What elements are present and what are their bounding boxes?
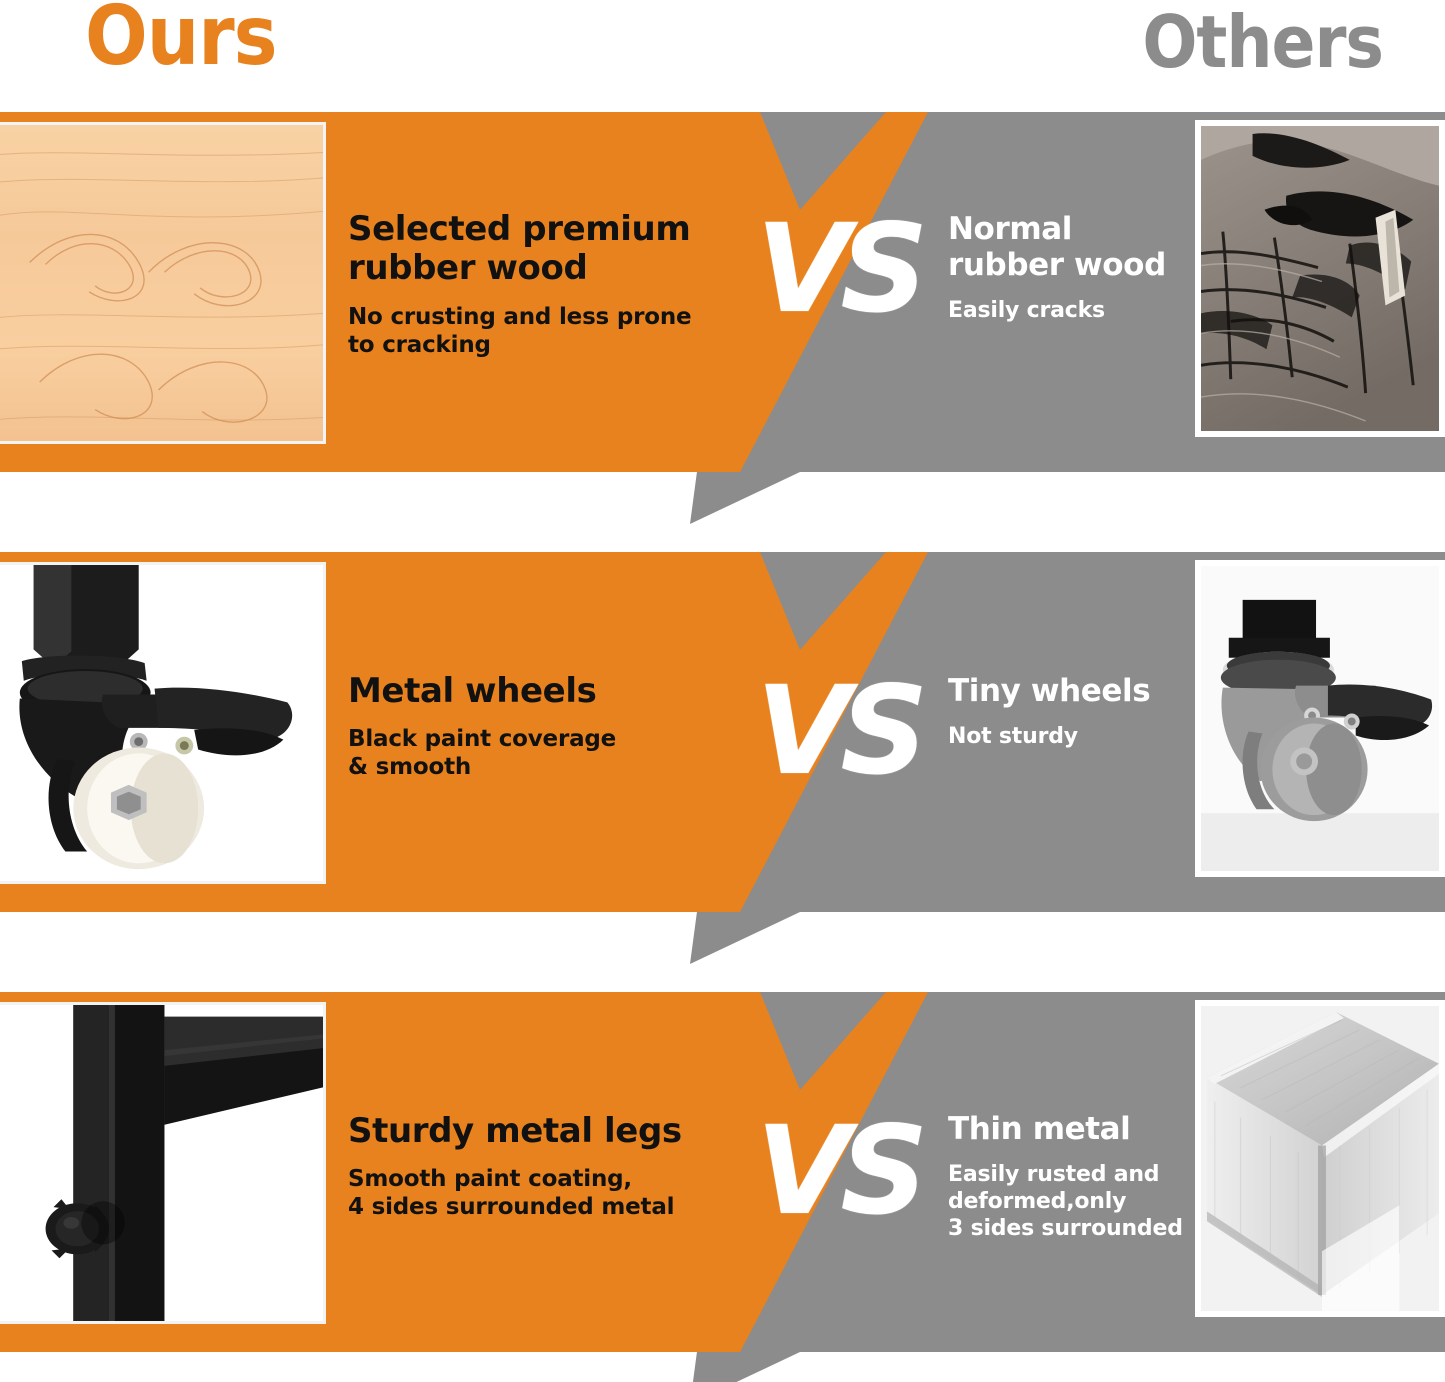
others-subtext-line-1: Easily rusted and	[948, 1162, 1193, 1189]
ours-heading-3: Sturdy metal legs	[348, 1112, 718, 1151]
ours-heading-line-2: rubber wood	[348, 249, 718, 288]
ours-heading-line-1: Sturdy metal legs	[348, 1112, 718, 1151]
comparison-infographic: Ours Others	[0, 0, 1445, 1382]
ours-text-block-2: Metal wheels Black paint coverage & smoo…	[348, 672, 718, 782]
cracked-wood-photo	[1195, 120, 1445, 437]
comparison-row-2: Metal wheels Black paint coverage & smoo…	[0, 552, 1445, 912]
ours-subtext-line-2: to cracking	[348, 331, 718, 359]
others-text-block-1: Normal rubber wood Easily cracks	[948, 212, 1193, 325]
ours-subtext-line-2: 4 sides surrounded metal	[348, 1193, 718, 1221]
others-heading-line-1: Tiny wheels	[948, 674, 1193, 710]
others-subtext-line-3: 3 sides surrounded	[948, 1216, 1193, 1243]
others-subtext-1: Easily cracks	[948, 298, 1193, 325]
ours-text-block-3: Sturdy metal legs Smooth paint coating, …	[348, 1112, 718, 1222]
ours-subtext-line-1: Smooth paint coating,	[348, 1165, 718, 1193]
others-heading-line-1: Normal	[948, 212, 1193, 248]
black-metal-leg-photo	[0, 1002, 326, 1324]
ours-subtext-3: Smooth paint coating, 4 sides surrounded…	[348, 1165, 718, 1221]
ours-subtext-line-2: & smooth	[348, 753, 718, 781]
others-heading-1: Normal rubber wood	[948, 212, 1193, 284]
ours-subtext-1: No crusting and less prone to cracking	[348, 303, 718, 359]
thin-metal-corner-photo	[1195, 1000, 1445, 1317]
others-heading-3: Thin metal	[948, 1112, 1193, 1148]
ours-subtext-line-1: No crusting and less prone	[348, 303, 718, 331]
ours-subtext-2: Black paint coverage & smooth	[348, 725, 718, 781]
others-text-block-2: Tiny wheels Not sturdy	[948, 674, 1193, 751]
ours-heading-line-1: Selected premium	[348, 210, 718, 249]
others-subtext-3: Easily rusted and deformed,only 3 sides …	[948, 1162, 1193, 1242]
premium-rubber-wood-photo	[0, 122, 326, 444]
ours-heading-line-1: Metal wheels	[348, 672, 718, 711]
ours-subtext-line-1: Black paint coverage	[348, 725, 718, 753]
others-text-block-3: Thin metal Easily rusted and deformed,on…	[948, 1112, 1193, 1242]
comparison-row-3: Sturdy metal legs Smooth paint coating, …	[0, 992, 1445, 1352]
ours-heading-1: Selected premium rubber wood	[348, 210, 718, 289]
ours-text-block-1: Selected premium rubber wood No crusting…	[348, 210, 718, 359]
others-heading-line-2: rubber wood	[948, 248, 1193, 284]
comparison-row-1: Selected premium rubber wood No crusting…	[0, 112, 1445, 472]
others-subtext-2: Not sturdy	[948, 724, 1193, 751]
others-subtext-line-2: deformed,only	[948, 1189, 1193, 1216]
black-caster-wheel-photo	[0, 562, 326, 884]
others-subtext-line-1: Easily cracks	[948, 298, 1193, 325]
others-subtext-line-1: Not sturdy	[948, 724, 1193, 751]
others-heading-line-1: Thin metal	[948, 1112, 1193, 1148]
others-heading-2: Tiny wheels	[948, 674, 1193, 710]
small-caster-wheel-photo	[1195, 560, 1445, 877]
ours-heading-2: Metal wheels	[348, 672, 718, 711]
